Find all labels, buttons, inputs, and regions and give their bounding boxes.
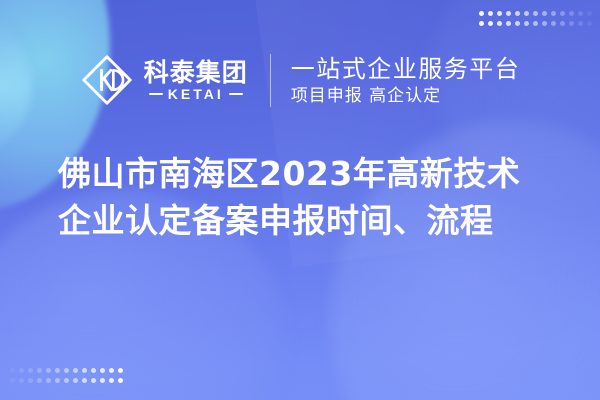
dot bbox=[569, 21, 574, 26]
dot bbox=[569, 11, 574, 16]
dot bbox=[82, 368, 87, 373]
dot bbox=[91, 378, 96, 383]
dot bbox=[46, 368, 51, 373]
dot-row bbox=[479, 21, 592, 26]
dash-right-decor bbox=[229, 93, 243, 96]
dot bbox=[506, 21, 511, 26]
dot bbox=[19, 378, 24, 383]
dot bbox=[100, 368, 105, 373]
brand-name-en: KETAI bbox=[168, 87, 224, 102]
dot bbox=[37, 368, 42, 373]
dot-row bbox=[10, 368, 123, 373]
dot bbox=[533, 11, 538, 16]
dot-row bbox=[10, 378, 123, 383]
dot bbox=[55, 378, 60, 383]
dot bbox=[479, 11, 484, 16]
dot bbox=[515, 11, 520, 16]
brand-name-en-row: KETAI bbox=[149, 87, 243, 102]
header-divider bbox=[270, 54, 271, 107]
dot bbox=[587, 21, 592, 26]
brand-logo[interactable]: 科泰集团 KETAI bbox=[80, 53, 248, 107]
dot-grid-bottom-left bbox=[10, 368, 123, 383]
dot bbox=[19, 368, 24, 373]
dot bbox=[46, 378, 51, 383]
dot bbox=[55, 368, 60, 373]
tagline-secondary: 项目申报 高企认定 bbox=[291, 86, 521, 106]
dot bbox=[10, 378, 15, 383]
dot bbox=[542, 11, 547, 16]
dot bbox=[578, 21, 583, 26]
dot bbox=[37, 378, 42, 383]
dot bbox=[497, 21, 502, 26]
dash-left-decor bbox=[149, 93, 163, 96]
dot bbox=[82, 378, 87, 383]
dot bbox=[560, 21, 565, 26]
banner-headline: 佛山市南海区2023年高新技术企业认定备案申报时间、流程 bbox=[58, 150, 548, 244]
dot-row bbox=[479, 11, 592, 16]
dot bbox=[64, 368, 69, 373]
dot bbox=[506, 11, 511, 16]
dot bbox=[28, 378, 33, 383]
dot bbox=[551, 21, 556, 26]
dot bbox=[118, 368, 123, 373]
dot bbox=[118, 378, 123, 383]
dot bbox=[533, 21, 538, 26]
dot bbox=[515, 21, 520, 26]
ketai-kp-diamond-logo-icon bbox=[80, 53, 134, 107]
dot bbox=[73, 378, 78, 383]
dot bbox=[64, 378, 69, 383]
dot-grid-top-right bbox=[479, 11, 592, 26]
promo-banner: 科泰集团 KETAI 一站式企业服务平台 项目申报 高企认定 佛山市南海区202… bbox=[0, 0, 600, 400]
dot bbox=[497, 11, 502, 16]
dot bbox=[91, 368, 96, 373]
brand-name-cn: 科泰集团 bbox=[144, 59, 248, 86]
dot bbox=[73, 368, 78, 373]
dot bbox=[488, 11, 493, 16]
banner-header: 科泰集团 KETAI 一站式企业服务平台 项目申报 高企认定 bbox=[0, 44, 600, 116]
dot bbox=[28, 368, 33, 373]
tagline-block: 一站式企业服务平台 项目申报 高企认定 bbox=[291, 55, 521, 106]
dot bbox=[488, 21, 493, 26]
tagline-primary: 一站式企业服务平台 bbox=[291, 55, 521, 83]
brand-wordmark: 科泰集团 KETAI bbox=[144, 59, 248, 102]
dot bbox=[560, 11, 565, 16]
dot bbox=[100, 378, 105, 383]
dot bbox=[524, 21, 529, 26]
dot bbox=[524, 11, 529, 16]
dot bbox=[109, 368, 114, 373]
dot bbox=[578, 11, 583, 16]
dot bbox=[479, 21, 484, 26]
dot bbox=[542, 21, 547, 26]
dot bbox=[551, 11, 556, 16]
dot bbox=[10, 368, 15, 373]
dot bbox=[587, 11, 592, 16]
dot bbox=[109, 378, 114, 383]
